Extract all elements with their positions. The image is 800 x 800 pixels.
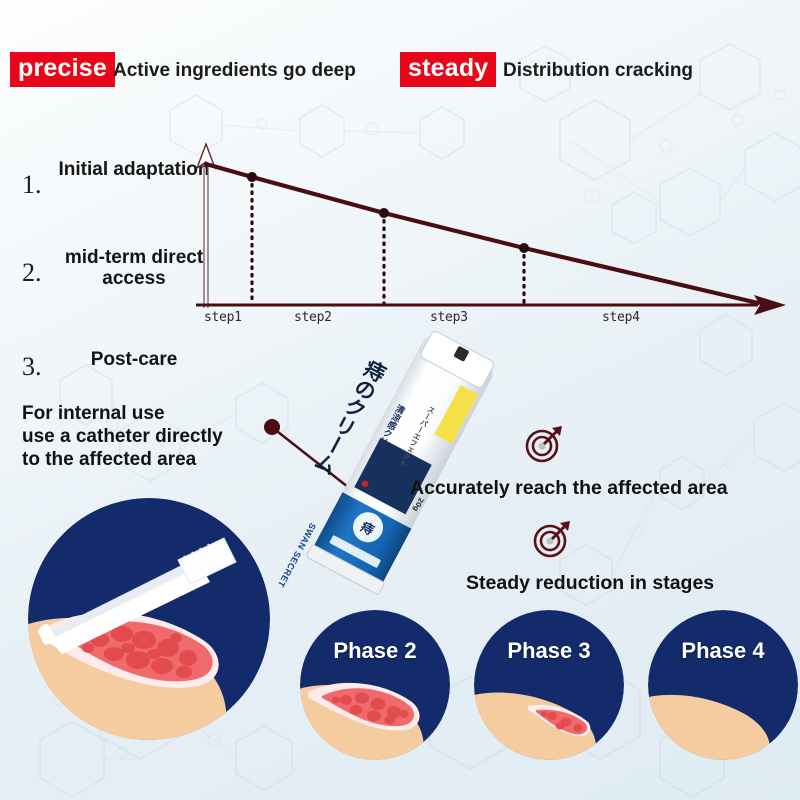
header-title-right: Distribution cracking bbox=[503, 60, 693, 82]
phase-2-label: Phase 2 bbox=[300, 638, 450, 664]
phase-1-illustration bbox=[28, 498, 270, 740]
phase-4-anatomy bbox=[648, 610, 798, 760]
chart-data-points bbox=[247, 172, 529, 253]
x-tick-label-step4: step4 bbox=[602, 310, 640, 325]
callout-line-1: For internal use bbox=[22, 402, 223, 425]
phase-3-anatomy bbox=[474, 610, 624, 760]
step-list-item-2: 2. mid-term direct access bbox=[22, 248, 212, 294]
benefit-text-1: Accurately reach the affected area bbox=[410, 477, 728, 500]
infographic-page: precise Active ingredients go deep stead… bbox=[0, 0, 800, 800]
phase-3-label: Phase 3 bbox=[474, 638, 624, 664]
internal-use-callout: For internal use use a catheter directly… bbox=[22, 402, 223, 472]
step-number-3: 3. bbox=[22, 352, 42, 382]
benefit-text-2: Steady reduction in stages bbox=[466, 572, 714, 595]
x-tick-label-step1: step1 bbox=[204, 310, 242, 325]
phase-3-illustration: Phase 3 bbox=[474, 610, 624, 760]
phase-2-illustration: Phase 2 bbox=[300, 610, 450, 760]
badge-steady: steady bbox=[400, 52, 496, 87]
step-number-2: 2. bbox=[22, 258, 42, 288]
header-title-left: Active ingredients go deep bbox=[113, 60, 356, 82]
x-tick-label-step2: step2 bbox=[294, 310, 332, 325]
x-tick-label-step3: step3 bbox=[430, 310, 468, 325]
chart-droplines bbox=[252, 177, 524, 304]
phase-4-label: Phase 4 bbox=[648, 638, 798, 664]
target-arrow-icon bbox=[522, 420, 568, 471]
step-list-item-1: 1. Initial adaptation bbox=[22, 160, 212, 206]
callout-line-2: use a catheter directly bbox=[22, 425, 223, 448]
chart-y-axis bbox=[197, 144, 215, 308]
phase-1-anatomy bbox=[28, 498, 270, 740]
step-number-1: 1. bbox=[22, 170, 42, 200]
badge-precise: precise bbox=[10, 52, 115, 87]
step-list-item-3: 3. Post-care bbox=[22, 342, 212, 388]
header: precise Active ingredients go deep stead… bbox=[0, 52, 800, 98]
phase-4-illustration: Phase 4 bbox=[648, 610, 798, 760]
target-arrow-icon bbox=[530, 515, 576, 566]
chart-series-line bbox=[206, 164, 758, 303]
steps-list: 1. Initial adaptation 2. mid-term direct… bbox=[22, 160, 212, 298]
callout-line-3: to the affected area bbox=[22, 448, 223, 471]
step-label-3: Post-care bbox=[54, 350, 214, 371]
phase-2-anatomy bbox=[300, 610, 450, 760]
product-tube: 痔 痔のクリーム 清涼感クリーム スーパーエフェクト 20g SWAN SECR… bbox=[300, 330, 500, 600]
chart-x-axis bbox=[196, 295, 786, 315]
decline-line-chart: step1 step2 step3 step4 bbox=[190, 140, 790, 335]
